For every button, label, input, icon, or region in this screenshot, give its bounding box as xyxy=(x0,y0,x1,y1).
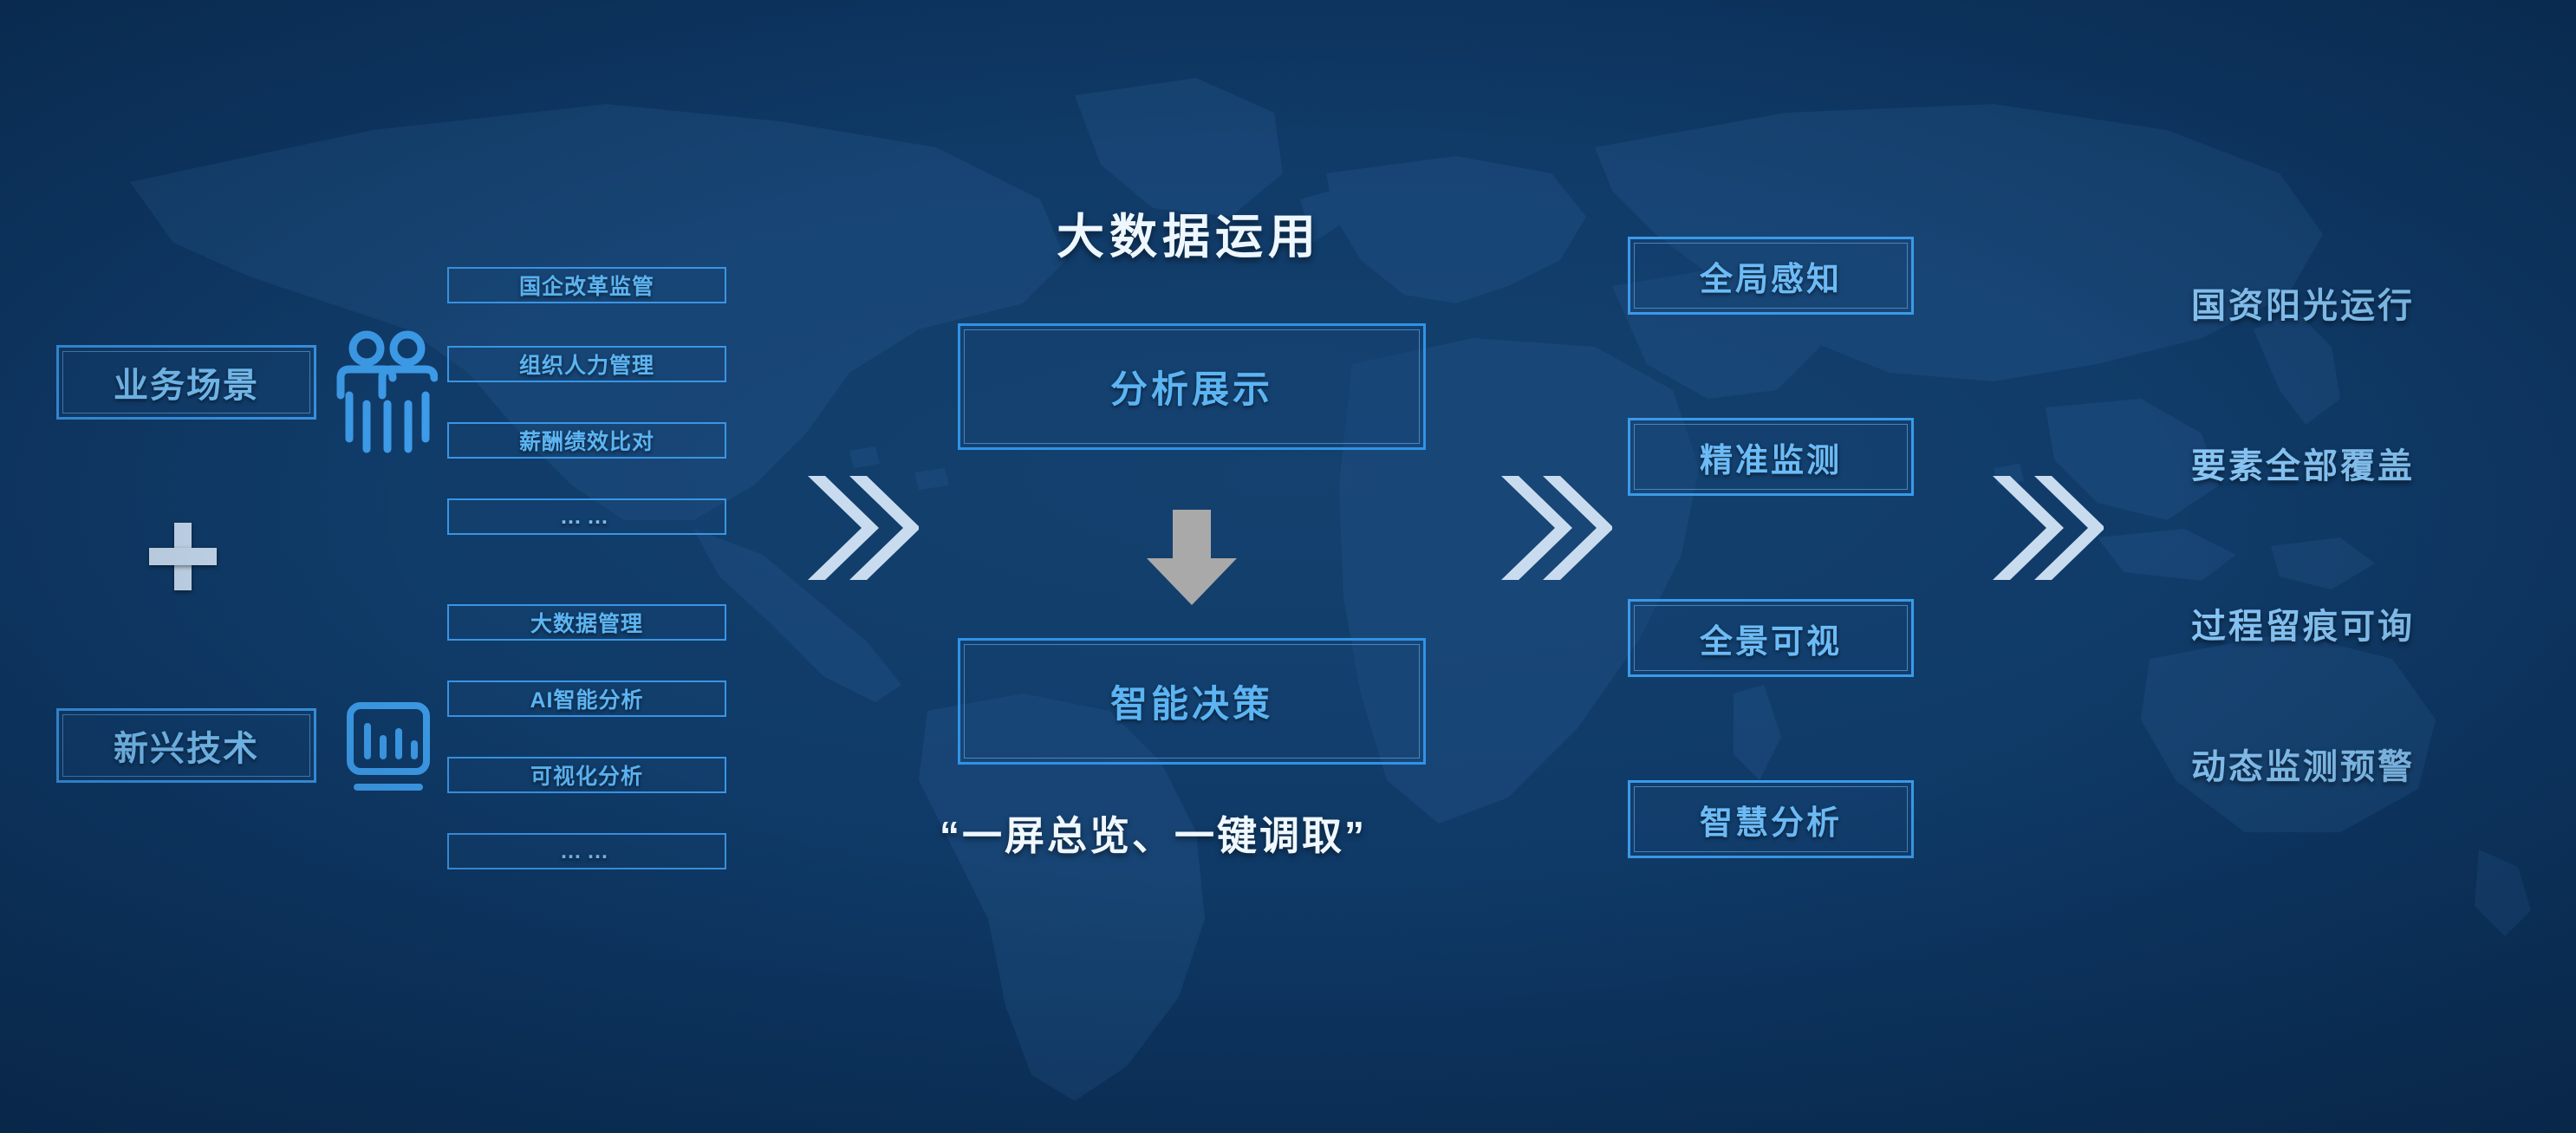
business-chip-0[interactable]: 国企改革监管 xyxy=(447,267,726,303)
business-chip-3[interactable]: …… xyxy=(447,498,726,535)
capability-box-1[interactable]: 精准监测 xyxy=(1628,418,1914,496)
chip-label: …… xyxy=(560,505,614,530)
center-box-label: 分析展示 xyxy=(1110,360,1273,413)
capability-label: 全景可视 xyxy=(1700,615,1842,662)
double-chevron-right-icon xyxy=(1989,472,2104,583)
technology-chip-1[interactable]: AI智能分析 xyxy=(447,680,726,717)
capability-label: 全局感知 xyxy=(1700,252,1842,300)
outcome-text-1: 要素全部覆盖 xyxy=(2191,438,2415,488)
page-title: 大数据运用 xyxy=(1057,198,1321,267)
chip-label: 大数据管理 xyxy=(530,607,643,638)
capability-box-2[interactable]: 全景可视 xyxy=(1628,599,1914,677)
chip-label: AI智能分析 xyxy=(530,683,643,714)
monitor-chart-icon xyxy=(345,700,445,798)
category-box-business[interactable]: 业务场景 xyxy=(56,345,316,420)
category-box-technology[interactable]: 新兴技术 xyxy=(56,708,316,783)
vignette-overlay xyxy=(0,0,2576,1133)
outcome-text-2: 过程留痕可询 xyxy=(2191,598,2415,648)
center-box-label: 智能决策 xyxy=(1110,674,1273,728)
center-box-analysis[interactable]: 分析展示 xyxy=(958,323,1426,450)
technology-chip-0[interactable]: 大数据管理 xyxy=(447,604,726,641)
down-arrow-icon xyxy=(1140,510,1244,605)
world-map-svg xyxy=(0,0,2576,1133)
connector-chevron-1 xyxy=(804,472,919,583)
connector-chevron-3 xyxy=(1989,472,2104,583)
capability-box-0[interactable]: 全局感知 xyxy=(1628,237,1914,315)
capability-box-3[interactable]: 智慧分析 xyxy=(1628,780,1914,858)
technology-chip-2[interactable]: 可视化分析 xyxy=(447,757,726,793)
business-chip-2[interactable]: 薪酬绩效比对 xyxy=(447,422,726,459)
technology-chip-3[interactable]: …… xyxy=(447,833,726,869)
chip-label: …… xyxy=(560,839,614,864)
world-map-background xyxy=(0,0,2576,1133)
people-icon xyxy=(334,328,438,458)
outcome-text-0: 国资阳光运行 xyxy=(2191,277,2415,328)
category-label-business: 业务场景 xyxy=(114,357,259,407)
business-chip-1[interactable]: 组织人力管理 xyxy=(447,346,726,382)
connector-chevron-2 xyxy=(1498,472,1612,583)
chip-label: 组织人力管理 xyxy=(519,348,654,380)
outcome-text-3: 动态监测预警 xyxy=(2191,739,2415,789)
chip-label: 国企改革监管 xyxy=(519,270,654,301)
center-quote: “一屏总览、一键调取” xyxy=(940,804,1367,862)
capability-label: 精准监测 xyxy=(1700,433,1842,481)
category-label-technology: 新兴技术 xyxy=(114,720,259,771)
capability-label: 智慧分析 xyxy=(1700,796,1842,843)
center-box-decision[interactable]: 智能决策 xyxy=(958,638,1426,765)
double-chevron-right-icon xyxy=(1498,472,1612,583)
slide-canvas: 业务场景 新兴技术 xyxy=(0,0,2576,1133)
plus-icon xyxy=(149,523,217,590)
chip-label: 薪酬绩效比对 xyxy=(519,425,654,456)
chip-label: 可视化分析 xyxy=(530,759,643,791)
double-chevron-right-icon xyxy=(804,472,919,583)
